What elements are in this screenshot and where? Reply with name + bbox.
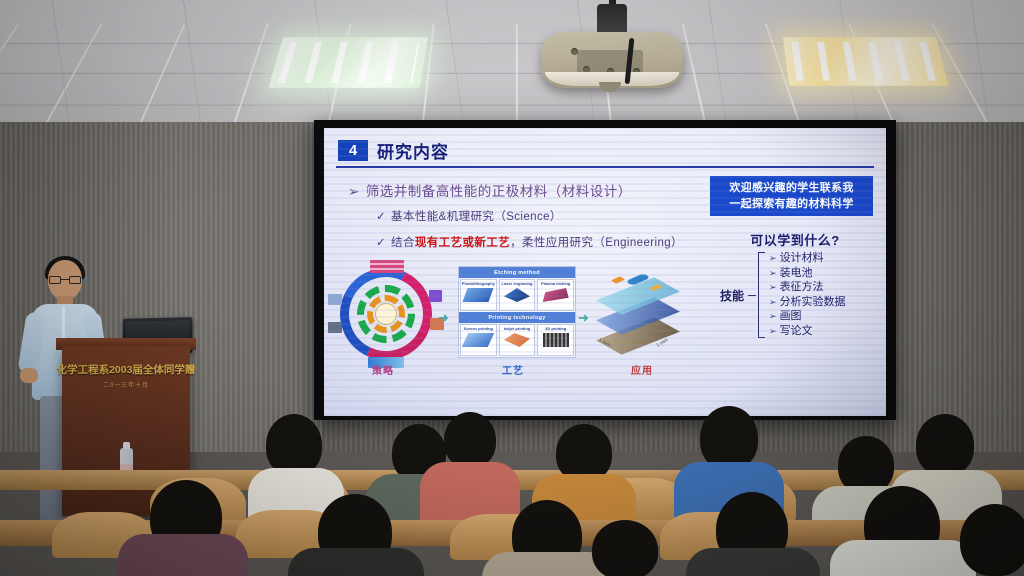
figure-caption-application: 应用 xyxy=(631,362,653,377)
bottle-cap xyxy=(123,442,130,449)
ceiling-light-right-icon xyxy=(783,37,948,86)
slide-section-number: 4 xyxy=(338,140,368,161)
check-icon: ✓ xyxy=(376,237,386,249)
slide-figure-row: ➜ Etching method Photolithography Laser … xyxy=(324,266,886,376)
grid-band-printing: Printing technology xyxy=(459,312,575,323)
cell-title: 3D printing xyxy=(545,326,566,331)
cell-graphic xyxy=(543,288,569,302)
flow-arrow-icon: ➜ xyxy=(438,310,449,326)
slide-bullet-3: ✓结合现有工艺或新工艺，柔性应用研究（Engineering） xyxy=(376,234,683,250)
grid-cell: Screen printing xyxy=(460,324,497,356)
grid-cell: Inkjet printing xyxy=(499,324,536,356)
bullet-3-highlight: 现有工艺或新工艺 xyxy=(415,237,510,249)
check-icon: ✓ xyxy=(376,211,386,223)
person-head xyxy=(592,520,658,576)
slide-title-rule xyxy=(336,166,874,168)
grid-cell: Photolithography xyxy=(460,279,497,311)
callout-line-1: 欢迎感兴趣的学生联系我 xyxy=(716,180,867,196)
wheel-tag xyxy=(328,294,342,305)
slide-title: 研究内容 xyxy=(377,138,449,163)
cell-graphic xyxy=(543,333,569,347)
bullet-marker-icon: ➢ xyxy=(348,184,360,199)
person-body xyxy=(686,548,820,576)
person-head xyxy=(960,504,1024,576)
cell-title: Photolithography xyxy=(462,281,495,286)
wheel-tag xyxy=(370,260,404,273)
cell-title: Screen printing xyxy=(464,326,493,331)
stack-component xyxy=(611,276,625,283)
grid-cell: 3D printing xyxy=(537,324,574,356)
cell-title: Laser engraving xyxy=(502,281,533,286)
person-head xyxy=(444,412,496,468)
person-head xyxy=(916,414,974,476)
list-item: ➢设计材料 xyxy=(769,252,846,266)
person-body xyxy=(118,534,248,576)
ceiling-projector-icon xyxy=(541,16,683,88)
figure-caption-process: 工艺 xyxy=(502,362,524,377)
bullet-3-suffix: ，柔性应用研究（Engineering） xyxy=(510,237,683,249)
slide-bullet-1: ➢筛选并制备高性能的正极材料（材料设计） xyxy=(348,180,632,200)
ceiling-light-left-icon xyxy=(268,37,428,87)
wheel-tag xyxy=(429,290,442,302)
grid-cell: Laser engraving xyxy=(499,279,536,311)
bullet-1-text: 筛选并制备高性能的正极材料（材料设计） xyxy=(366,184,632,199)
lectern-plaque: 化学工程系2003届全体同学赠 二0一三年十月 xyxy=(70,358,182,392)
cell-graphic xyxy=(463,288,494,302)
glasses-icon xyxy=(49,276,81,284)
slide-bullet-2: ✓基本性能&机理研究（Science） xyxy=(376,208,562,224)
grid-band-etching: Etching method xyxy=(459,267,575,278)
person-body xyxy=(830,540,976,576)
grid-row-printing: Screen printing Inkjet printing 3D print… xyxy=(459,323,575,357)
contact-callout: 欢迎感兴趣的学生联系我 一起探索有趣的材料科学 xyxy=(710,176,873,216)
flow-arrow-icon: ➜ xyxy=(578,310,589,326)
grid-cell: Plasma etching xyxy=(537,279,574,311)
process-grid-figure: Etching method Photolithography Laser en… xyxy=(458,266,576,358)
figure-caption-strategy: 策略 xyxy=(372,362,394,377)
strategy-wheel-figure xyxy=(340,268,432,360)
skill-label: 设计材料 xyxy=(780,252,824,264)
presentation-slide: 4 研究内容 ➢筛选并制备高性能的正极材料（材料设计） ✓基本性能&机理研究（S… xyxy=(324,128,886,416)
grid-row-etching: Photolithography Laser engraving Plasma … xyxy=(459,278,575,312)
application-stack-figure: 1 mm 1 mm xyxy=(592,270,688,358)
person-head xyxy=(700,406,758,470)
wheel-tag xyxy=(328,322,342,333)
person-body xyxy=(288,548,424,576)
light-tubes xyxy=(791,42,939,81)
bullet-2-text: 基本性能&机理研究（Science） xyxy=(391,211,562,223)
lecture-hall-photo: 4 研究内容 ➢筛选并制备高性能的正极材料（材料设计） ✓基本性能&机理研究（S… xyxy=(0,0,1024,576)
cell-title: Inkjet printing xyxy=(504,326,530,331)
learning-question: 可以学到什么? xyxy=(722,230,868,249)
projection-screen: 4 研究内容 ➢筛选并制备高性能的正极材料（材料设计） ✓基本性能&机理研究（S… xyxy=(314,120,896,420)
cell-graphic xyxy=(504,333,530,347)
plaque-main-text: 化学工程系2003届全体同学赠 xyxy=(57,362,196,377)
projector-indicator xyxy=(571,48,578,55)
wheel-hub xyxy=(375,303,397,325)
plaque-sub-text: 二0一三年十月 xyxy=(103,380,149,389)
callout-line-2: 一起探索有趣的材料科学 xyxy=(716,196,867,212)
cell-graphic xyxy=(504,288,530,302)
cell-title: Plasma etching xyxy=(541,281,570,286)
bullet-3-prefix: 结合 xyxy=(391,237,415,249)
arrow-icon: ➢ xyxy=(769,253,777,263)
presenter-hand xyxy=(20,368,38,383)
person-head xyxy=(266,414,322,476)
slide-header: 4 研究内容 xyxy=(338,138,449,163)
back-wall-right xyxy=(894,122,1024,452)
cell-graphic xyxy=(462,333,495,347)
light-tubes xyxy=(278,42,419,83)
